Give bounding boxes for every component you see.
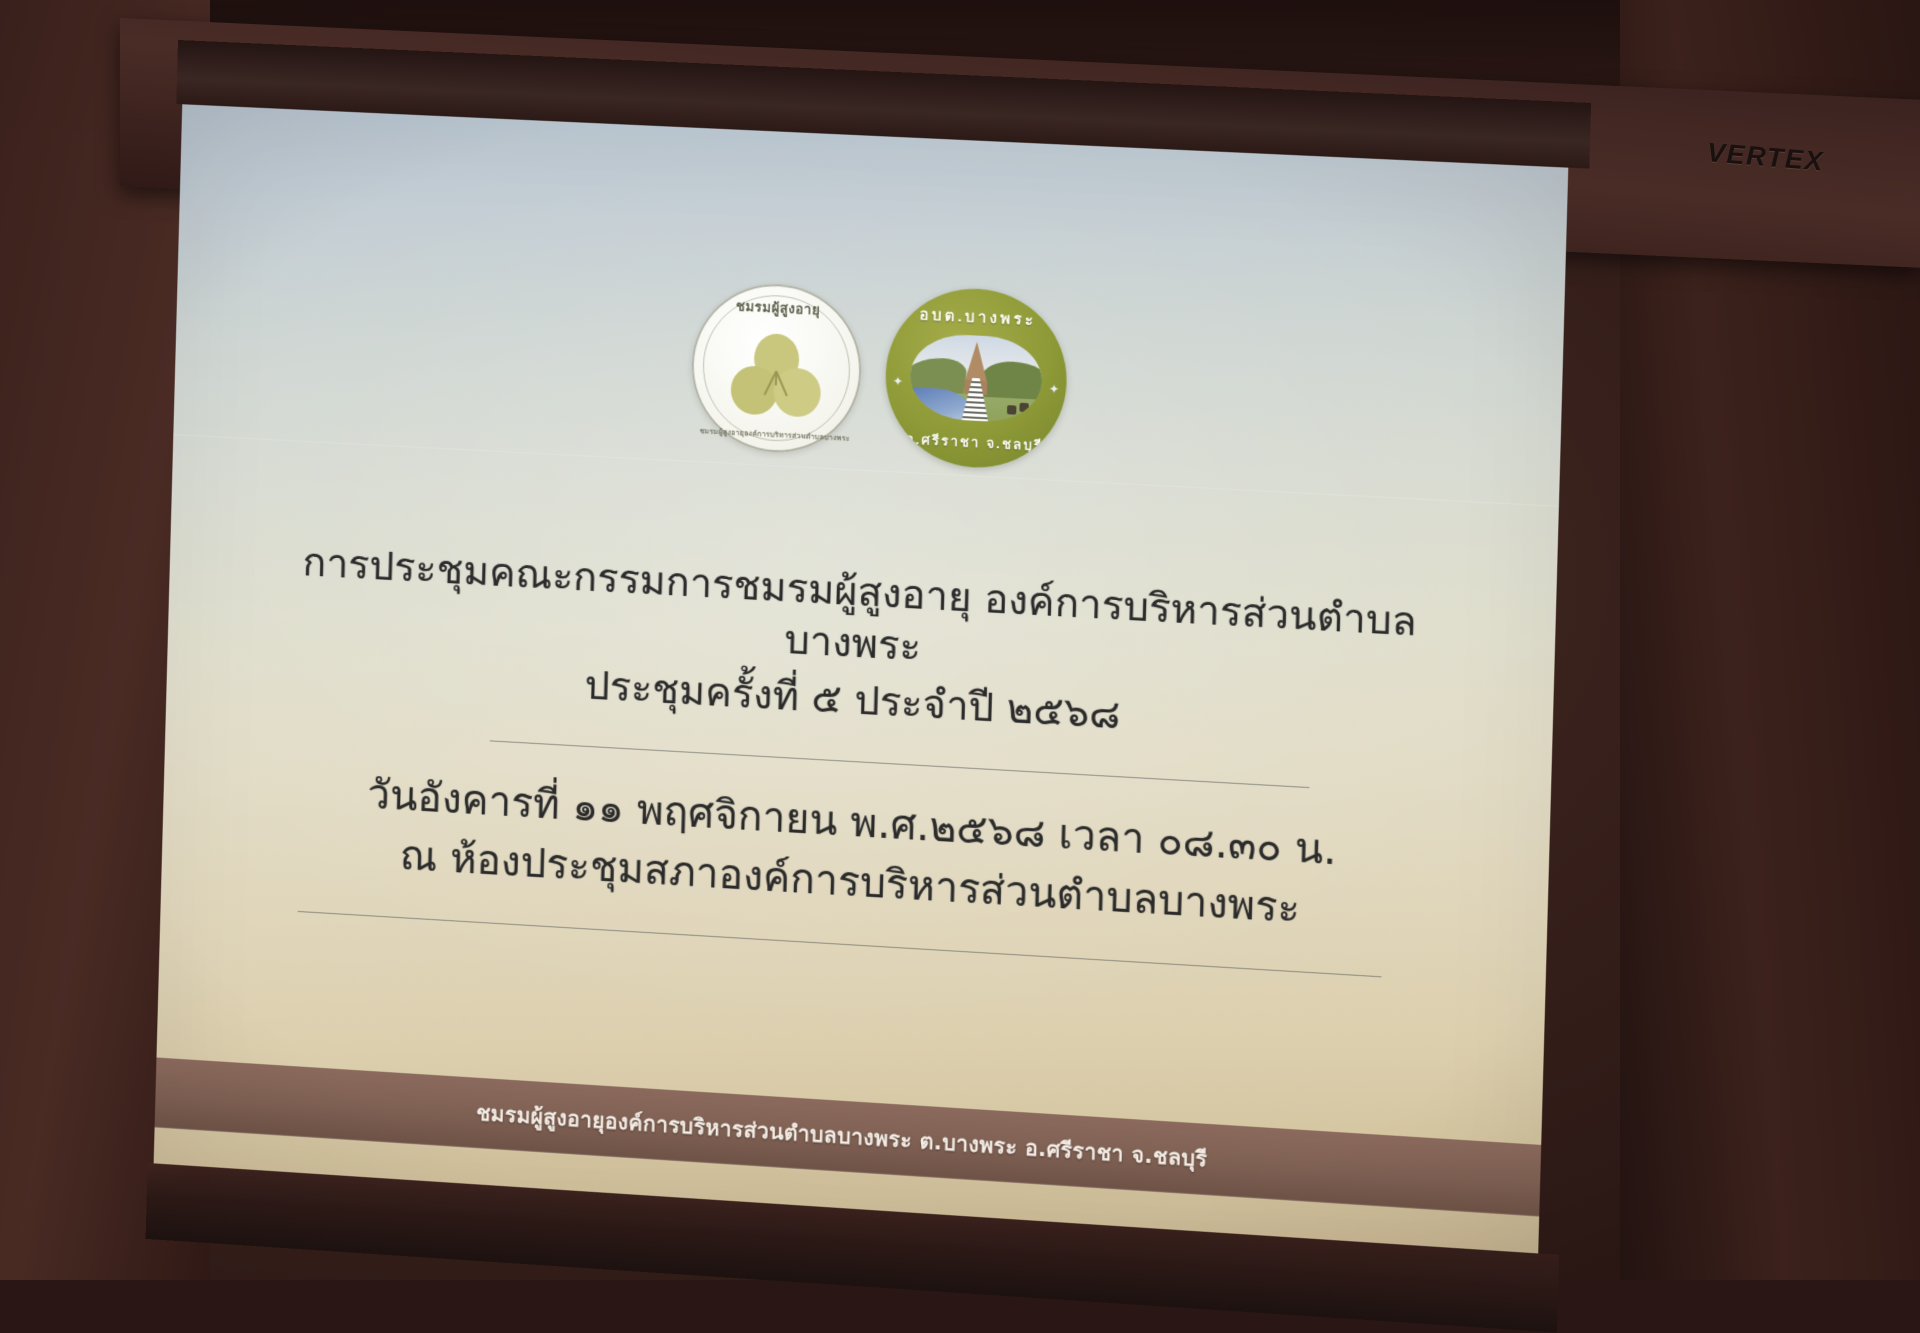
seal-arc-bottom-text: อ.ศรีราชา จ.ชลบุรี xyxy=(884,427,1065,458)
seal-arc-top-text: อบต.บางพระ xyxy=(887,301,1069,334)
star-icon: ✦ xyxy=(1049,382,1060,397)
emblem-arc-top-text: ชมรมผู้สูงอายุ xyxy=(693,293,863,323)
star-icon: ✦ xyxy=(893,374,904,389)
animal-icon xyxy=(1007,405,1017,415)
slide-text-block: การประชุมคณะกรรมการชมรมผู้สูงอายุ องค์กา… xyxy=(160,530,1556,1022)
slide-footer-text: ชมรมผู้สูงอายุองค์การบริหารส่วนตำบลบางพร… xyxy=(476,1096,1208,1176)
sao-bang-phra-seal-icon: อบต.บางพระ ✦ ✦ อ.ศรีราชา จ.ชลบุรี xyxy=(883,285,1069,473)
slide-logos: ชมรมผู้สูงอายุ ชมรมผู้สูงอายุองค์การบริห… xyxy=(689,275,1069,472)
animal-icon xyxy=(1019,403,1029,413)
hill-right-shape xyxy=(982,360,1043,400)
elder-club-emblem-icon: ชมรมผู้สูงอายุ ชมรมผู้สูงอายุองค์การบริห… xyxy=(690,280,864,456)
three-petal-icon xyxy=(729,330,823,419)
seal-scene-illustration xyxy=(909,332,1043,424)
pagoda-icon xyxy=(965,341,989,383)
screen-surface: ชมรมผู้สูงอายุ ชมรมผู้สูงอายุองค์การบริห… xyxy=(154,104,1569,1253)
projector-screen: ชมรมผู้สูงอายุ ชมรมผู้สูงอายุองค์การบริห… xyxy=(146,40,1592,1333)
divider-upper xyxy=(490,741,1310,789)
presentation-slide: ชมรมผู้สูงอายุ ชมรมผู้สูงอายุองค์การบริห… xyxy=(154,104,1569,1253)
